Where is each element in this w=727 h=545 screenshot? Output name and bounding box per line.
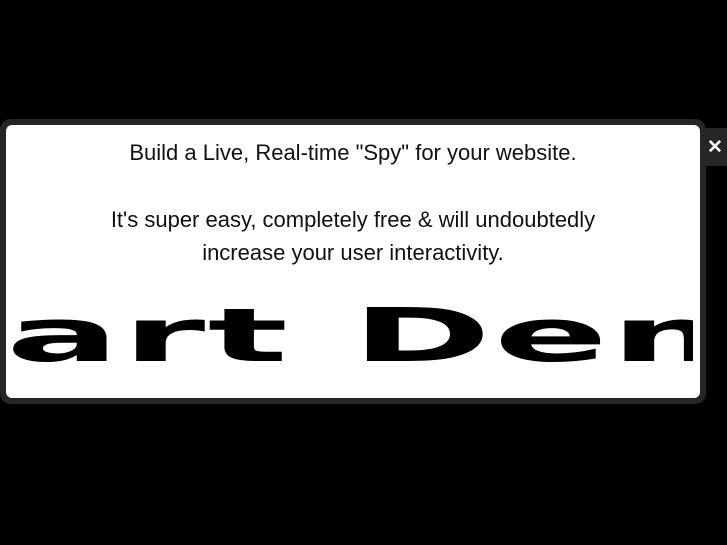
close-icon: ✕ [707, 138, 723, 157]
start-demo-label: Start Demo [13, 299, 693, 379]
promo-subcopy-line-2: increase your user interactivity. [202, 240, 504, 265]
close-button[interactable]: ✕ [700, 128, 727, 166]
promo-subcopy-line-1: It's super easy, completely free & will … [111, 207, 595, 232]
promo-subcopy: It's super easy, completely free & will … [6, 167, 700, 269]
promo-modal-surface: Build a Live, Real-time "Spy" for your w… [6, 125, 700, 398]
start-demo-button[interactable]: Start Demo [6, 299, 700, 379]
start-demo-wordmark: Start Demo [13, 299, 693, 379]
page-title: Build a Live, Real-time "Spy" for your w… [6, 125, 700, 167]
promo-modal: Build a Live, Real-time "Spy" for your w… [0, 119, 706, 404]
